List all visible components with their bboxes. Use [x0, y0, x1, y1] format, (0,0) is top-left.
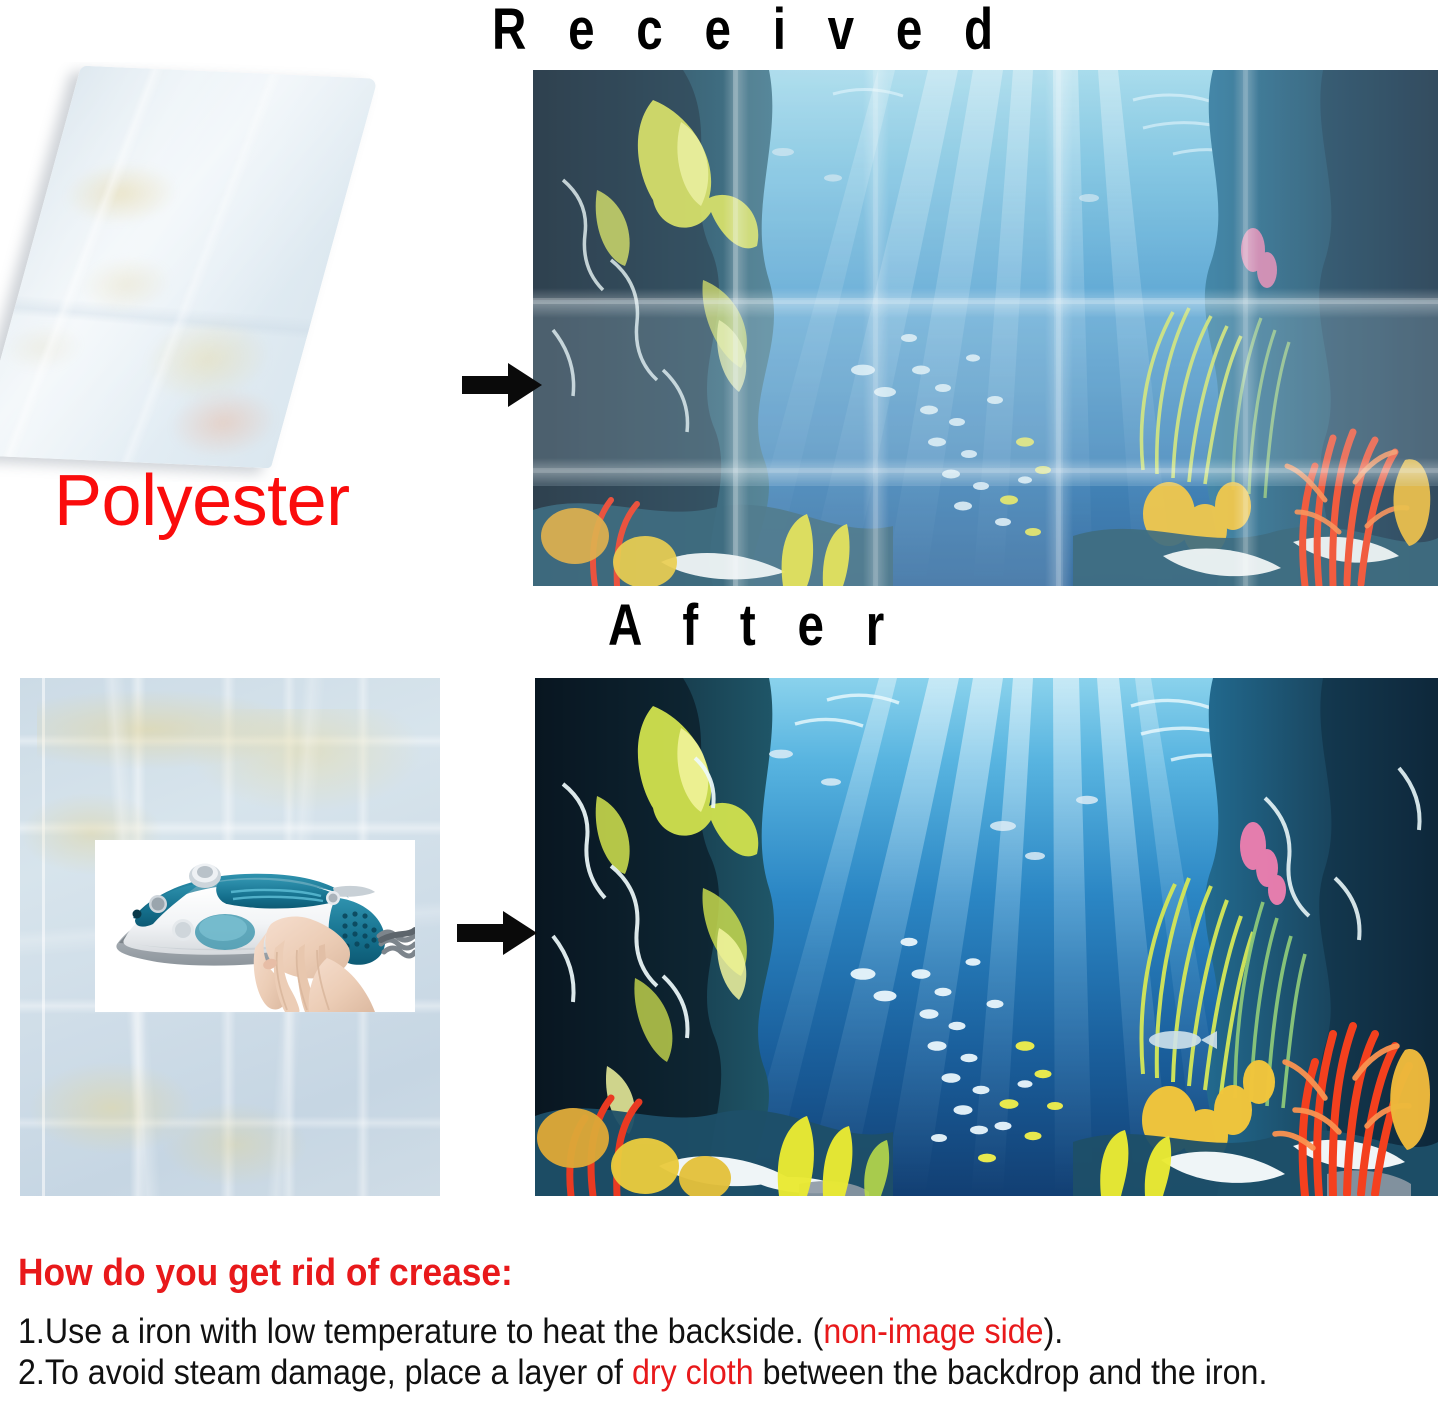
instruction-2-highlight: dry cloth — [632, 1353, 754, 1392]
polyester-swatch-photo — [0, 62, 440, 482]
instruction-1-prefix: 1.Use a iron with low temperature to hea… — [18, 1312, 823, 1351]
folded-fabric — [0, 66, 378, 469]
instruction-line-2: 2.To avoid steam damage, place a layer o… — [18, 1352, 1324, 1393]
right-arrow-icon-2 — [455, 908, 539, 958]
backdrop-backside-photo — [20, 678, 440, 1196]
after-backdrop-photo — [535, 678, 1438, 1196]
instructions-block: How do you get rid of crease: 1.Use a ir… — [18, 1252, 1438, 1394]
infographic-page: R e c e i v e d A f t e r Polyester — [0, 0, 1438, 1402]
steam-iron-photo — [95, 840, 415, 1012]
section-title-received: R e c e i v e d — [492, 0, 1007, 63]
instructions-heading: How do you get rid of crease: — [18, 1252, 1339, 1295]
instruction-2-suffix: between the backdrop and the iron. — [754, 1353, 1268, 1392]
instruction-1-highlight: non-image side — [823, 1312, 1043, 1351]
fabric-fold-streaks — [0, 66, 378, 469]
received-backdrop-photo — [533, 70, 1438, 586]
section-title-after: A f t e r — [608, 592, 898, 659]
right-arrow-icon — [460, 360, 544, 410]
instruction-line-1: 1.Use a iron with low temperature to hea… — [18, 1311, 1324, 1352]
instruction-2-prefix: 2.To avoid steam damage, place a layer o… — [18, 1353, 632, 1392]
polyester-label: Polyester — [54, 460, 350, 542]
instruction-1-suffix: ). — [1044, 1312, 1064, 1351]
